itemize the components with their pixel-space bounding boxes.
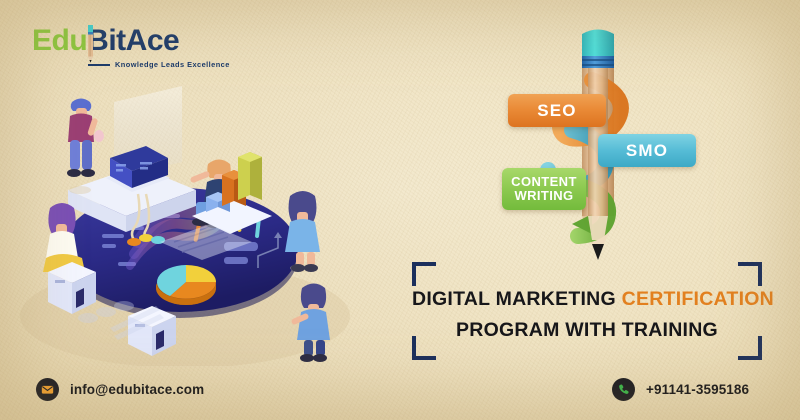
- headline-line-1-accent: CERTIFICATION: [622, 288, 774, 310]
- contact-phone[interactable]: +91141-3595186: [612, 378, 749, 401]
- service-label-writing: WRITING: [514, 189, 573, 203]
- contact-email-text: info@edubitace.com: [70, 382, 204, 397]
- isometric-data-analytics-illustration: [10, 66, 360, 366]
- pencil-icon: [86, 20, 95, 64]
- headline-line-1-plain: DIGITAL MARKETING: [412, 288, 622, 310]
- logo-text-edu: Edu: [32, 24, 87, 57]
- pie-chart: [156, 265, 216, 305]
- headline-block: DIGITAL MARKETING CERTIFICATION PROGRAM …: [412, 262, 762, 360]
- marketing-banner: EduBitAce Knowledge Leads Excellence: [0, 0, 800, 420]
- headline-text: DIGITAL MARKETING CERTIFICATION PROGRAM …: [412, 284, 762, 346]
- corner-bracket-top-left: [412, 262, 436, 286]
- contact-email[interactable]: info@edubitace.com: [36, 378, 204, 401]
- headline-line-1: DIGITAL MARKETING CERTIFICATION: [412, 284, 762, 315]
- logo-wordmark: EduBitAce: [32, 24, 247, 58]
- headline-line-2: PROGRAM WITH TRAINING: [412, 315, 762, 346]
- envelope-icon: [36, 378, 59, 401]
- contact-phone-text: +91141-3595186: [646, 382, 749, 397]
- service-label-content: CONTENT: [511, 175, 577, 189]
- phone-handset-icon: [612, 378, 635, 401]
- pencil-with-service-ribbons: SEO SMO CONTENT WRITING: [480, 18, 720, 268]
- service-ribbon-content-writing[interactable]: CONTENT WRITING: [502, 168, 586, 210]
- service-label-smo: SMO: [626, 141, 668, 161]
- service-ribbon-seo[interactable]: SEO: [508, 94, 606, 127]
- corner-bracket-top-right: [738, 262, 762, 286]
- bar-olive: [238, 152, 262, 200]
- logo-text-bitace: BitAce: [87, 24, 179, 57]
- service-label-seo: SEO: [537, 101, 577, 121]
- service-ribbon-smo[interactable]: SMO: [598, 134, 696, 167]
